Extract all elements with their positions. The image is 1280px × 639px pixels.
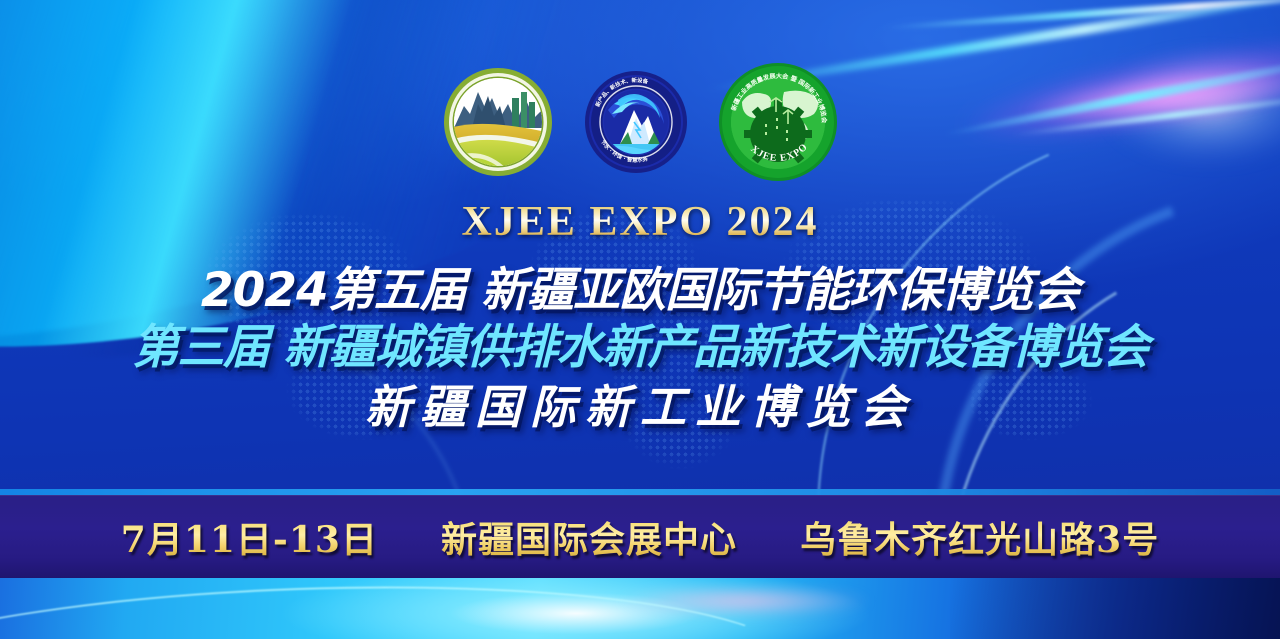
- bottom-light-strip: [0, 578, 1280, 639]
- background-streak-cyan-2: [880, 0, 1280, 32]
- expo-wordmark-text: XJEE EXPO 2024: [461, 198, 818, 246]
- xinjiang-landscape-logo: [442, 66, 554, 178]
- xjee-expo-green-logo: 新疆工业高质量发展大会 暨 国际新工业博览会 XJEE EXPO: [718, 62, 838, 182]
- expo-wordmark: XJEE EXPO 2024: [0, 198, 1280, 246]
- water-supply-drainage-logo: 新产品、新技术、新设备 节水 · 环保 · 智慧水务: [584, 70, 688, 174]
- event-date: 7月11日-13日: [121, 519, 378, 561]
- logo-row: 新产品、新技术、新设备 节水 · 环保 · 智慧水务: [0, 62, 1280, 182]
- event-venue: 新疆国际会展中心: [441, 519, 737, 561]
- expo-banner: 新产品、新技术、新设备 节水 · 环保 · 智慧水务: [0, 0, 1280, 639]
- info-bar: 7月11日-13日 新疆国际会展中心 乌鲁木齐红光山路3号: [0, 495, 1280, 578]
- title-block: 2024第五届 新疆亚欧国际节能环保博览会 第三届 新疆城镇供排水新产品新技术新…: [0, 266, 1280, 431]
- title-line-3: 新疆国际新工业博览会: [0, 383, 1280, 431]
- event-address: 乌鲁木齐红光山路3号: [800, 519, 1159, 561]
- title-line-2: 第三届 新疆城镇供排水新产品新技术新设备博览会: [0, 323, 1280, 372]
- bottom-strip-dark-right: [950, 578, 1280, 639]
- info-bar-content: 7月11日-13日 新疆国际会展中心 乌鲁木齐红光山路3号: [121, 511, 1159, 563]
- title-line-1: 2024第五届 新疆亚欧国际节能环保博览会: [0, 266, 1280, 315]
